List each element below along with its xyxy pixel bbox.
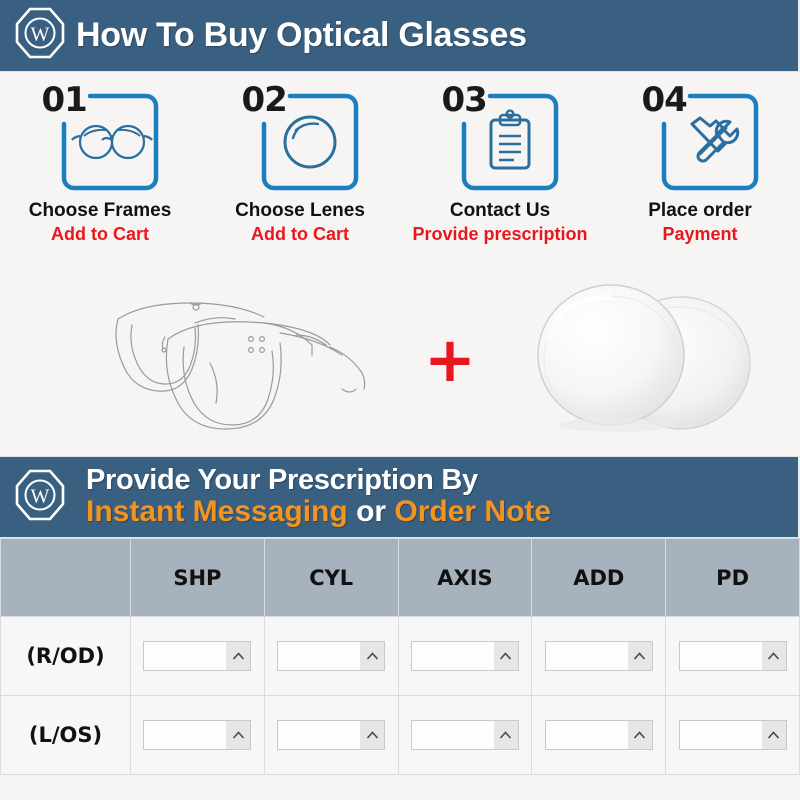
chevron-up-icon[interactable]	[628, 642, 652, 670]
plus-icon: +	[424, 338, 476, 381]
step-number-01: 01	[42, 80, 87, 120]
cell-right-axis	[398, 617, 532, 696]
header-banner-provide-prescription: W Provide Your Prescription By Instant M…	[0, 456, 800, 538]
two-optical-lenses-icon	[495, 275, 785, 445]
prescription-table-body: (R/OD)	[1, 617, 800, 775]
spinner-right-add[interactable]	[545, 641, 653, 671]
step-label-01: Choose Frames	[29, 200, 172, 222]
frames-illustration-cell	[0, 277, 420, 442]
plus-separator-cell: +	[420, 338, 480, 381]
input-left-cyl[interactable]	[278, 721, 360, 749]
step-number-02: 02	[242, 80, 287, 120]
input-left-pd[interactable]	[680, 721, 762, 749]
chevron-up-icon[interactable]	[628, 721, 652, 749]
step-item-01: 01 Choose Frames Add to Cart	[0, 82, 200, 267]
prescription-table-head: SHP CYL AXIS ADD PD	[1, 539, 800, 617]
row-label-left-eye: (L/OS)	[1, 696, 131, 775]
chevron-up-icon[interactable]	[762, 721, 786, 749]
svg-text:W: W	[31, 485, 50, 507]
step-label-03: Contact Us	[450, 200, 550, 222]
column-header-pd: PD	[666, 539, 800, 617]
input-right-cyl[interactable]	[278, 642, 360, 670]
prescription-table: SHP CYL AXIS ADD PD (R/OD)	[0, 538, 800, 775]
brand-octagon-logo-icon-2: W	[14, 467, 66, 528]
cell-right-shp	[131, 617, 265, 696]
chevron-up-icon[interactable]	[360, 721, 384, 749]
lenses-illustration-cell	[480, 275, 800, 445]
infographic-page: W How To Buy Optical Glasses 01	[0, 0, 800, 800]
banner2-line1: Provide Your Prescription By	[86, 465, 551, 496]
step-icon-wrap-01: 01	[38, 82, 163, 194]
input-left-shp[interactable]	[144, 721, 226, 749]
svg-text:W: W	[31, 24, 50, 46]
cell-right-add	[532, 617, 666, 696]
table-header-row: SHP CYL AXIS ADD PD	[1, 539, 800, 617]
step-icon-wrap-02: 02	[238, 82, 363, 194]
chevron-up-icon[interactable]	[494, 721, 518, 749]
input-right-add[interactable]	[546, 642, 628, 670]
step-label-02: Choose Lenes	[235, 200, 365, 222]
column-header-axis: AXIS	[398, 539, 532, 617]
step-sublabel-04: Payment	[662, 224, 737, 245]
banner2-text-block: Provide Your Prescription By Instant Mes…	[86, 465, 551, 529]
step-icon-wrap-04: 04	[638, 82, 763, 194]
step-sublabel-02: Add to Cart	[251, 224, 349, 245]
spinner-left-shp[interactable]	[143, 720, 251, 750]
spinner-left-pd[interactable]	[679, 720, 787, 750]
step-sublabel-01: Add to Cart	[51, 224, 149, 245]
spinner-left-cyl[interactable]	[277, 720, 385, 750]
header-banner-how-to-buy: W How To Buy Optical Glasses	[0, 0, 800, 72]
eyeglasses-line-drawing-icon	[40, 277, 380, 442]
cell-left-axis	[398, 696, 532, 775]
input-left-axis[interactable]	[412, 721, 494, 749]
table-row-left-eye: (L/OS)	[1, 696, 800, 775]
banner2-connector: or	[356, 495, 386, 528]
step-number-03: 03	[442, 80, 487, 120]
column-header-shp: SHP	[131, 539, 265, 617]
chevron-up-icon[interactable]	[360, 642, 384, 670]
column-header-add: ADD	[532, 539, 666, 617]
product-illustration-row: +	[0, 267, 800, 452]
step-number-04: 04	[642, 80, 687, 120]
spinner-right-shp[interactable]	[143, 641, 251, 671]
banner2-line2: Instant Messaging or Order Note	[86, 496, 551, 528]
input-right-pd[interactable]	[680, 642, 762, 670]
banner2-order-note: Order Note	[394, 495, 551, 528]
step-label-04: Place order	[648, 200, 752, 222]
step-item-03: 03 Contact Us Provide prescription	[400, 82, 600, 267]
table-corner-cell	[1, 539, 131, 617]
cell-left-pd	[666, 696, 800, 775]
chevron-up-icon[interactable]	[494, 642, 518, 670]
table-row-right-eye: (R/OD)	[1, 617, 800, 696]
spinner-left-add[interactable]	[545, 720, 653, 750]
column-header-cyl: CYL	[264, 539, 398, 617]
step-item-04: 04 Place order Payment	[600, 82, 800, 267]
page-title: How To Buy Optical Glasses	[76, 16, 527, 55]
cell-left-shp	[131, 696, 265, 775]
cell-right-cyl	[264, 617, 398, 696]
cell-right-pd	[666, 617, 800, 696]
row-label-right-eye: (R/OD)	[1, 617, 131, 696]
brand-octagon-logo-icon: W	[14, 6, 66, 65]
chevron-up-icon[interactable]	[762, 642, 786, 670]
spinner-left-axis[interactable]	[411, 720, 519, 750]
step-sublabel-03: Provide prescription	[412, 224, 587, 245]
input-right-shp[interactable]	[144, 642, 226, 670]
spinner-right-pd[interactable]	[679, 641, 787, 671]
chevron-up-icon[interactable]	[226, 721, 250, 749]
step-icon-wrap-03: 03	[438, 82, 563, 194]
steps-row: 01 Choose Frames Add to Cart	[0, 72, 800, 267]
cell-left-add	[532, 696, 666, 775]
banner2-instant-messaging: Instant Messaging	[86, 495, 348, 528]
step-item-02: 02 Choose Lenes Add to Cart	[200, 82, 400, 267]
chevron-up-icon[interactable]	[226, 642, 250, 670]
spinner-right-cyl[interactable]	[277, 641, 385, 671]
input-right-axis[interactable]	[412, 642, 494, 670]
cell-left-cyl	[264, 696, 398, 775]
spinner-right-axis[interactable]	[411, 641, 519, 671]
input-left-add[interactable]	[546, 721, 628, 749]
